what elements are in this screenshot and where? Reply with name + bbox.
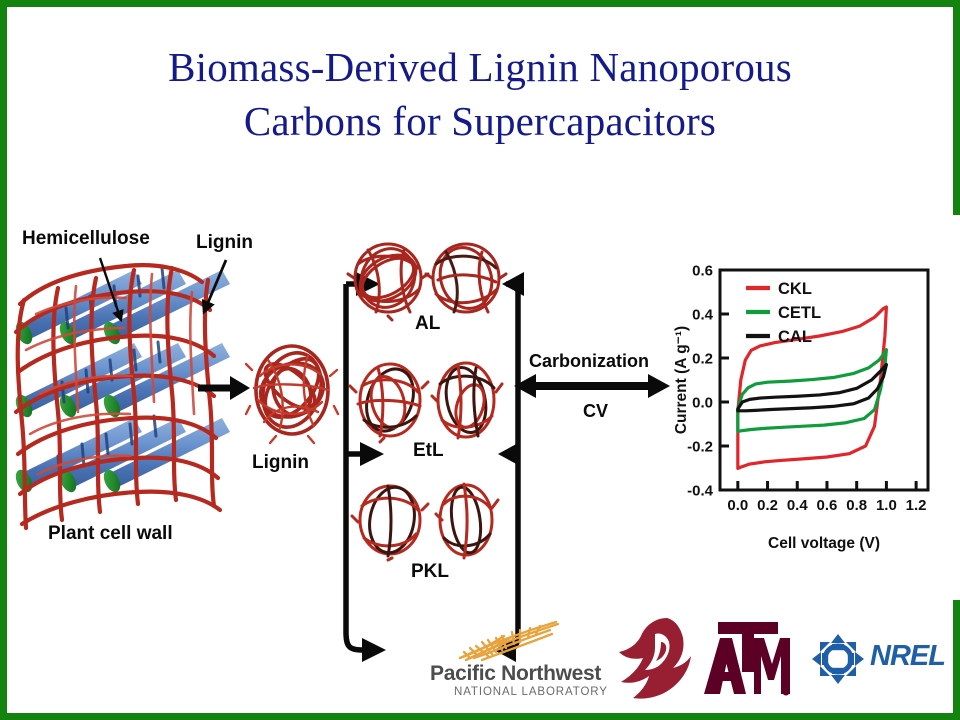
tamu-atm-icon bbox=[702, 620, 794, 698]
logo-pnnl: Pacific Northwest NATIONAL LABORATORY bbox=[430, 618, 605, 702]
x-tick-label: 1.0 bbox=[876, 497, 897, 514]
carbonization-double-arrow bbox=[512, 372, 672, 400]
nrel-compass-icon bbox=[812, 634, 864, 684]
x-tick-label: 0.0 bbox=[727, 497, 748, 514]
nrel-wordmark: NREL bbox=[870, 640, 945, 673]
label-AL: AL bbox=[415, 313, 440, 335]
label-lignin-callout: Lignin bbox=[196, 232, 253, 254]
chart-legend: CKLCETLCAL bbox=[746, 280, 821, 346]
y-tick-label: 0.2 bbox=[692, 351, 713, 368]
pnnl-wordmark: Pacific Northwest bbox=[430, 662, 601, 686]
border-right-upper bbox=[953, 0, 960, 215]
label-hemicellulose: Hemicellulose bbox=[22, 228, 150, 250]
y-tick-label: 0.0 bbox=[692, 395, 713, 412]
bracket-types-to-carbonization bbox=[500, 256, 536, 660]
label-lignin: Lignin bbox=[252, 452, 309, 474]
cv-chart-svg: 0.60.40.20.0-0.2-0.4 0.00.20.40.60.81.01… bbox=[672, 256, 944, 556]
lignin-type-EtL-illustration bbox=[348, 358, 508, 442]
y-tick-label: 0.4 bbox=[692, 307, 714, 324]
label-plant-cell-wall: Plant cell wall bbox=[48, 523, 173, 545]
x-tick-label: 0.6 bbox=[817, 497, 838, 514]
y-tick-label: -0.4 bbox=[687, 483, 714, 500]
cv-chart: 0.60.40.20.0-0.2-0.4 0.00.20.40.60.81.01… bbox=[672, 256, 944, 556]
pnnl-starburst-icon bbox=[430, 618, 605, 662]
label-PKL: PKL bbox=[411, 561, 449, 583]
y-tick-label: 0.6 bbox=[692, 263, 713, 280]
legend-label-CETL: CETL bbox=[778, 304, 821, 322]
legend-label-CAL: CAL bbox=[778, 328, 812, 346]
x-tick-label: 0.2 bbox=[757, 497, 778, 514]
label-EtL: EtL bbox=[413, 440, 444, 462]
logo-tamu bbox=[702, 620, 794, 698]
legend-label-CKL: CKL bbox=[778, 280, 812, 298]
label-cv: CV bbox=[583, 401, 608, 422]
x-tick-label: 1.2 bbox=[906, 497, 927, 514]
logo-strip: Pacific Northwest NATIONAL LABORATORY bbox=[430, 612, 950, 708]
lignin-type-PKL-illustration bbox=[348, 478, 508, 560]
page-title: Biomass-Derived Lignin Nanoporous Carbon… bbox=[60, 40, 900, 148]
x-tick-label: 0.4 bbox=[787, 497, 809, 514]
title-line-1: Biomass-Derived Lignin Nanoporous bbox=[168, 44, 792, 90]
lignin-type-AL-illustration bbox=[348, 238, 508, 320]
pnnl-subtitle: NATIONAL LABORATORY bbox=[454, 686, 608, 698]
x-axis-label: Cell voltage (V) bbox=[768, 535, 880, 552]
logo-wsu bbox=[615, 616, 693, 700]
label-carbonization: Carbonization bbox=[529, 351, 649, 372]
y-tick-label: -0.2 bbox=[687, 439, 713, 456]
y-axis-label: Current (A g⁻¹) bbox=[673, 326, 690, 434]
title-line-2: Carbons for Supercapacitors bbox=[60, 94, 900, 148]
logo-nrel: NREL bbox=[812, 634, 952, 684]
border-right-lower bbox=[953, 600, 960, 720]
border-bottom bbox=[0, 713, 960, 720]
wsu-cougar-icon bbox=[615, 616, 693, 700]
border-top bbox=[0, 0, 960, 7]
x-tick-label: 0.8 bbox=[846, 497, 867, 514]
callout-arrows-cellwall bbox=[14, 244, 274, 344]
slide-canvas: Biomass-Derived Lignin Nanoporous Carbon… bbox=[0, 0, 960, 720]
